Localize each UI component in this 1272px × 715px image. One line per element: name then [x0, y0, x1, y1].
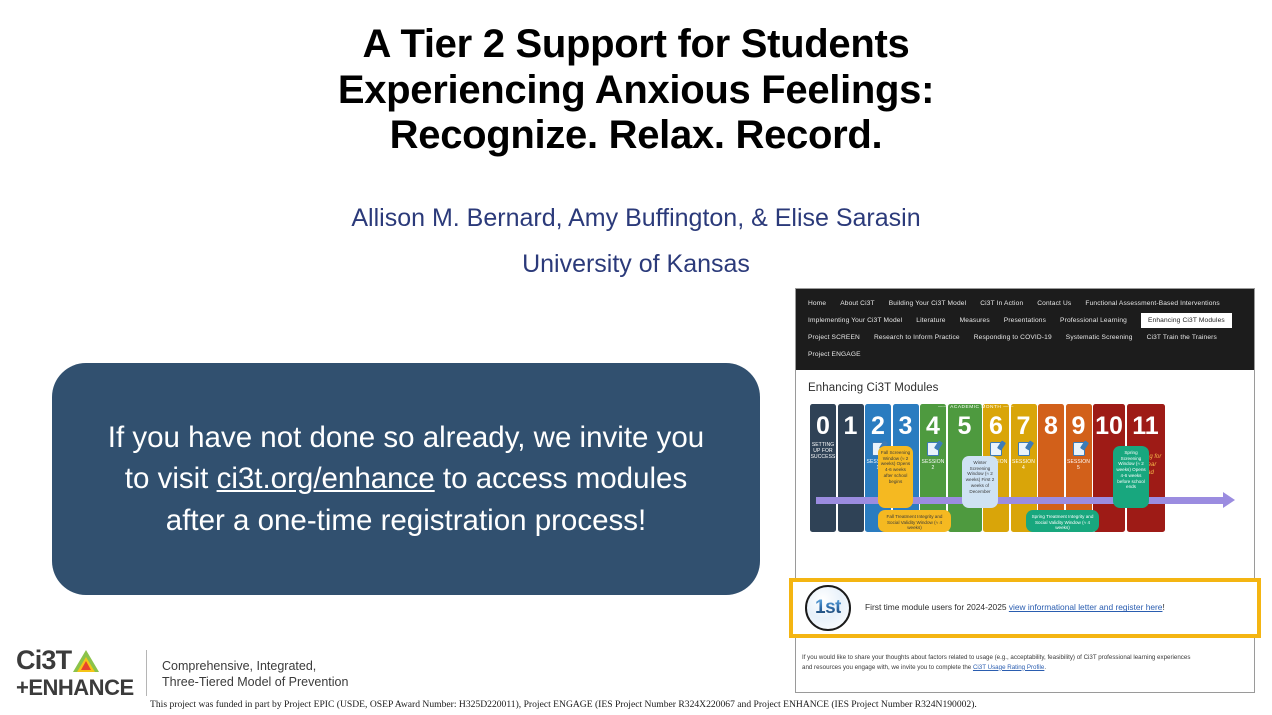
tagline-line-1: Comprehensive, Integrated, — [162, 658, 348, 674]
first-time-user-registration-box: 1st First time module users for 2024-202… — [789, 578, 1261, 638]
nav-item-ci3t-train-the-trainers[interactable]: Ci3T Train the Trainers — [1147, 334, 1217, 341]
pencil-icon — [1073, 442, 1085, 456]
nav-item-professional-learning[interactable]: Professional Learning — [1060, 317, 1127, 324]
callout-text: If you have not done so already, we invi… — [52, 417, 760, 541]
module-block-1[interactable]: 1 — [838, 404, 864, 532]
registration-text: First time module users for 2024-2025 vi… — [865, 601, 1165, 614]
usage-text-after: . — [1044, 664, 1046, 671]
spring-screening-bubble: Spring Screening Window (≈ 2 weeks) Open… — [1113, 446, 1149, 508]
module-number: 3 — [899, 415, 913, 439]
registration-text-after: ! — [1162, 602, 1164, 612]
module-number: 5 — [958, 415, 972, 439]
module-number: 0 — [816, 415, 830, 439]
module-session-label: SETTING UP FOR SUCCESS — [810, 442, 836, 460]
nav-item-home[interactable]: Home — [808, 300, 826, 307]
fall-screening-bubble: Fall Screening Window (≈ 2 weeks) Opens … — [878, 446, 913, 508]
module-blocks: 0SETTING UP FOR SUCCESS12SESSION 134SESS… — [810, 404, 1235, 532]
module-session-label: SESSION 5 — [1066, 459, 1092, 471]
affiliation: University of Kansas — [216, 252, 1056, 277]
registration-text-before: First time module users for 2024-2025 — [865, 602, 1009, 612]
nav-item-responding-to-covid-19[interactable]: Responding to COVID-19 — [974, 334, 1052, 341]
winter-screening-bubble: Winter Screening Window (≈ 2 weeks) Firs… — [962, 456, 998, 508]
module-number: 4 — [926, 415, 940, 439]
tagline-line-2: Three-Tiered Model of Prevention — [162, 674, 348, 690]
nav-row-2: Implementing Your Ci3T Model Literature … — [808, 313, 1242, 327]
first-place-badge-icon: 1st — [805, 585, 851, 631]
nav-item-building-your-ci3t-model[interactable]: Building Your Ci3T Model — [889, 300, 967, 307]
nav-item-project-screen[interactable]: Project SCREEN — [808, 334, 860, 341]
module-session-label: SESSION 2 — [920, 459, 946, 471]
nav-item-research-to-inform-practice[interactable]: Research to Inform Practice — [874, 334, 960, 341]
ci3t-enhance-logo: Ci3T +ENHANCE Comprehensive, Integrated,… — [16, 648, 376, 702]
module-number: 10 — [1095, 415, 1123, 439]
module-session-label: SESSION 4 — [1011, 459, 1037, 471]
module-number: 2 — [871, 415, 885, 439]
ci3t-enhance-link[interactable]: ci3t.org/enhance — [217, 462, 435, 495]
pencil-icon — [990, 442, 1002, 456]
nav-item-about-ci3t[interactable]: About Ci3T — [840, 300, 875, 307]
nav-item-functional-assessment-based-interventions[interactable]: Functional Assessment-Based Intervention… — [1085, 300, 1219, 307]
module-number: 7 — [1017, 415, 1031, 439]
pencil-icon — [927, 442, 939, 456]
logo-tagline: Comprehensive, Integrated, Three-Tiered … — [162, 658, 348, 691]
author-list: Allison M. Bernard, Amy Buffington, & El… — [216, 206, 1056, 231]
site-navigation-bar: Home About Ci3T Building Your Ci3T Model… — [796, 289, 1254, 370]
module-number: 6 — [989, 415, 1003, 439]
module-number: 9 — [1072, 415, 1086, 439]
logo-divider — [146, 650, 147, 696]
nav-item-literature[interactable]: Literature — [916, 317, 945, 324]
logo-main-text: Ci3T — [16, 648, 71, 674]
title-line-2: Experiencing Anxious Feelings: — [256, 68, 1016, 114]
academic-month-label: —— ACADEMIC MONTH —— — [938, 405, 1014, 410]
invitation-callout-box: If you have not done so already, we invi… — [52, 363, 760, 595]
nav-item-measures[interactable]: Measures — [960, 317, 990, 324]
nav-item-contact-us[interactable]: Contact Us — [1037, 300, 1071, 307]
funding-statement: This project was funded in part by Proje… — [150, 699, 1260, 710]
nav-row-3: Project SCREEN Research to Inform Practi… — [808, 330, 1242, 344]
nav-item-project-engage[interactable]: Project ENGAGE — [808, 351, 861, 358]
badge-label: 1st — [815, 597, 841, 619]
site-content-area: Enhancing Ci3T Modules 0SETTING UP FOR S… — [796, 370, 1254, 532]
logo-mark: Ci3T +ENHANCE — [16, 648, 134, 701]
module-number: 1 — [844, 415, 858, 439]
site-page-heading: Enhancing Ci3T Modules — [808, 382, 1244, 394]
triangle-icon — [73, 650, 99, 672]
ci3t-usage-rating-profile-link[interactable]: Ci3T Usage Rating Profile — [973, 664, 1044, 671]
module-number: 8 — [1044, 415, 1058, 439]
pencil-icon — [1018, 442, 1030, 456]
fall-treatment-bubble: Fall Treatment Integrity and Social Vali… — [878, 510, 951, 532]
usage-rating-note: If you would like to share your thoughts… — [802, 653, 1202, 672]
title-line-1: A Tier 2 Support for Students — [256, 22, 1016, 68]
register-here-link[interactable]: view informational letter and register h… — [1009, 602, 1163, 612]
page-title: A Tier 2 Support for Students Experienci… — [256, 22, 1016, 159]
module-number: 11 — [1132, 415, 1158, 439]
title-line-3: Recognize. Relax. Record. — [256, 113, 1016, 159]
nav-item-presentations[interactable]: Presentations — [1004, 317, 1046, 324]
logo-wordmark-row: Ci3T — [16, 648, 134, 674]
module-block-0[interactable]: 0SETTING UP FOR SUCCESS — [810, 404, 836, 532]
nav-row-1: Home About Ci3T Building Your Ci3T Model… — [808, 296, 1242, 310]
ci3t-module-timeline: 0SETTING UP FOR SUCCESS12SESSION 134SESS… — [810, 404, 1235, 532]
nav-item-systematic-screening[interactable]: Systematic Screening — [1066, 334, 1133, 341]
nav-row-4: Project ENGAGE — [808, 347, 1242, 361]
nav-item-implementing-your-ci3t-model[interactable]: Implementing Your Ci3T Model — [808, 317, 902, 324]
spring-treatment-bubble: Spring Treatment Integrity and Social Va… — [1026, 510, 1099, 532]
nav-item-ci3t-in-action[interactable]: Ci3T In Action — [980, 300, 1023, 307]
nav-item-enhancing-ci3t-modules[interactable]: Enhancing Ci3T Modules — [1141, 313, 1232, 328]
logo-sub-text: +ENHANCE — [16, 675, 134, 701]
